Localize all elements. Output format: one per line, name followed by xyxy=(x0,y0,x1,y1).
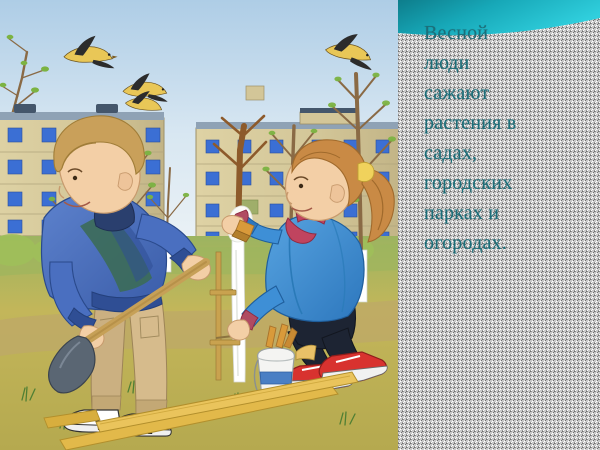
caption-text: Весной люди сажают растения в садах, гор… xyxy=(424,18,592,258)
slide-root: Весной люди сажают растения в садах, гор… xyxy=(0,0,600,450)
illustration-image xyxy=(0,0,399,450)
